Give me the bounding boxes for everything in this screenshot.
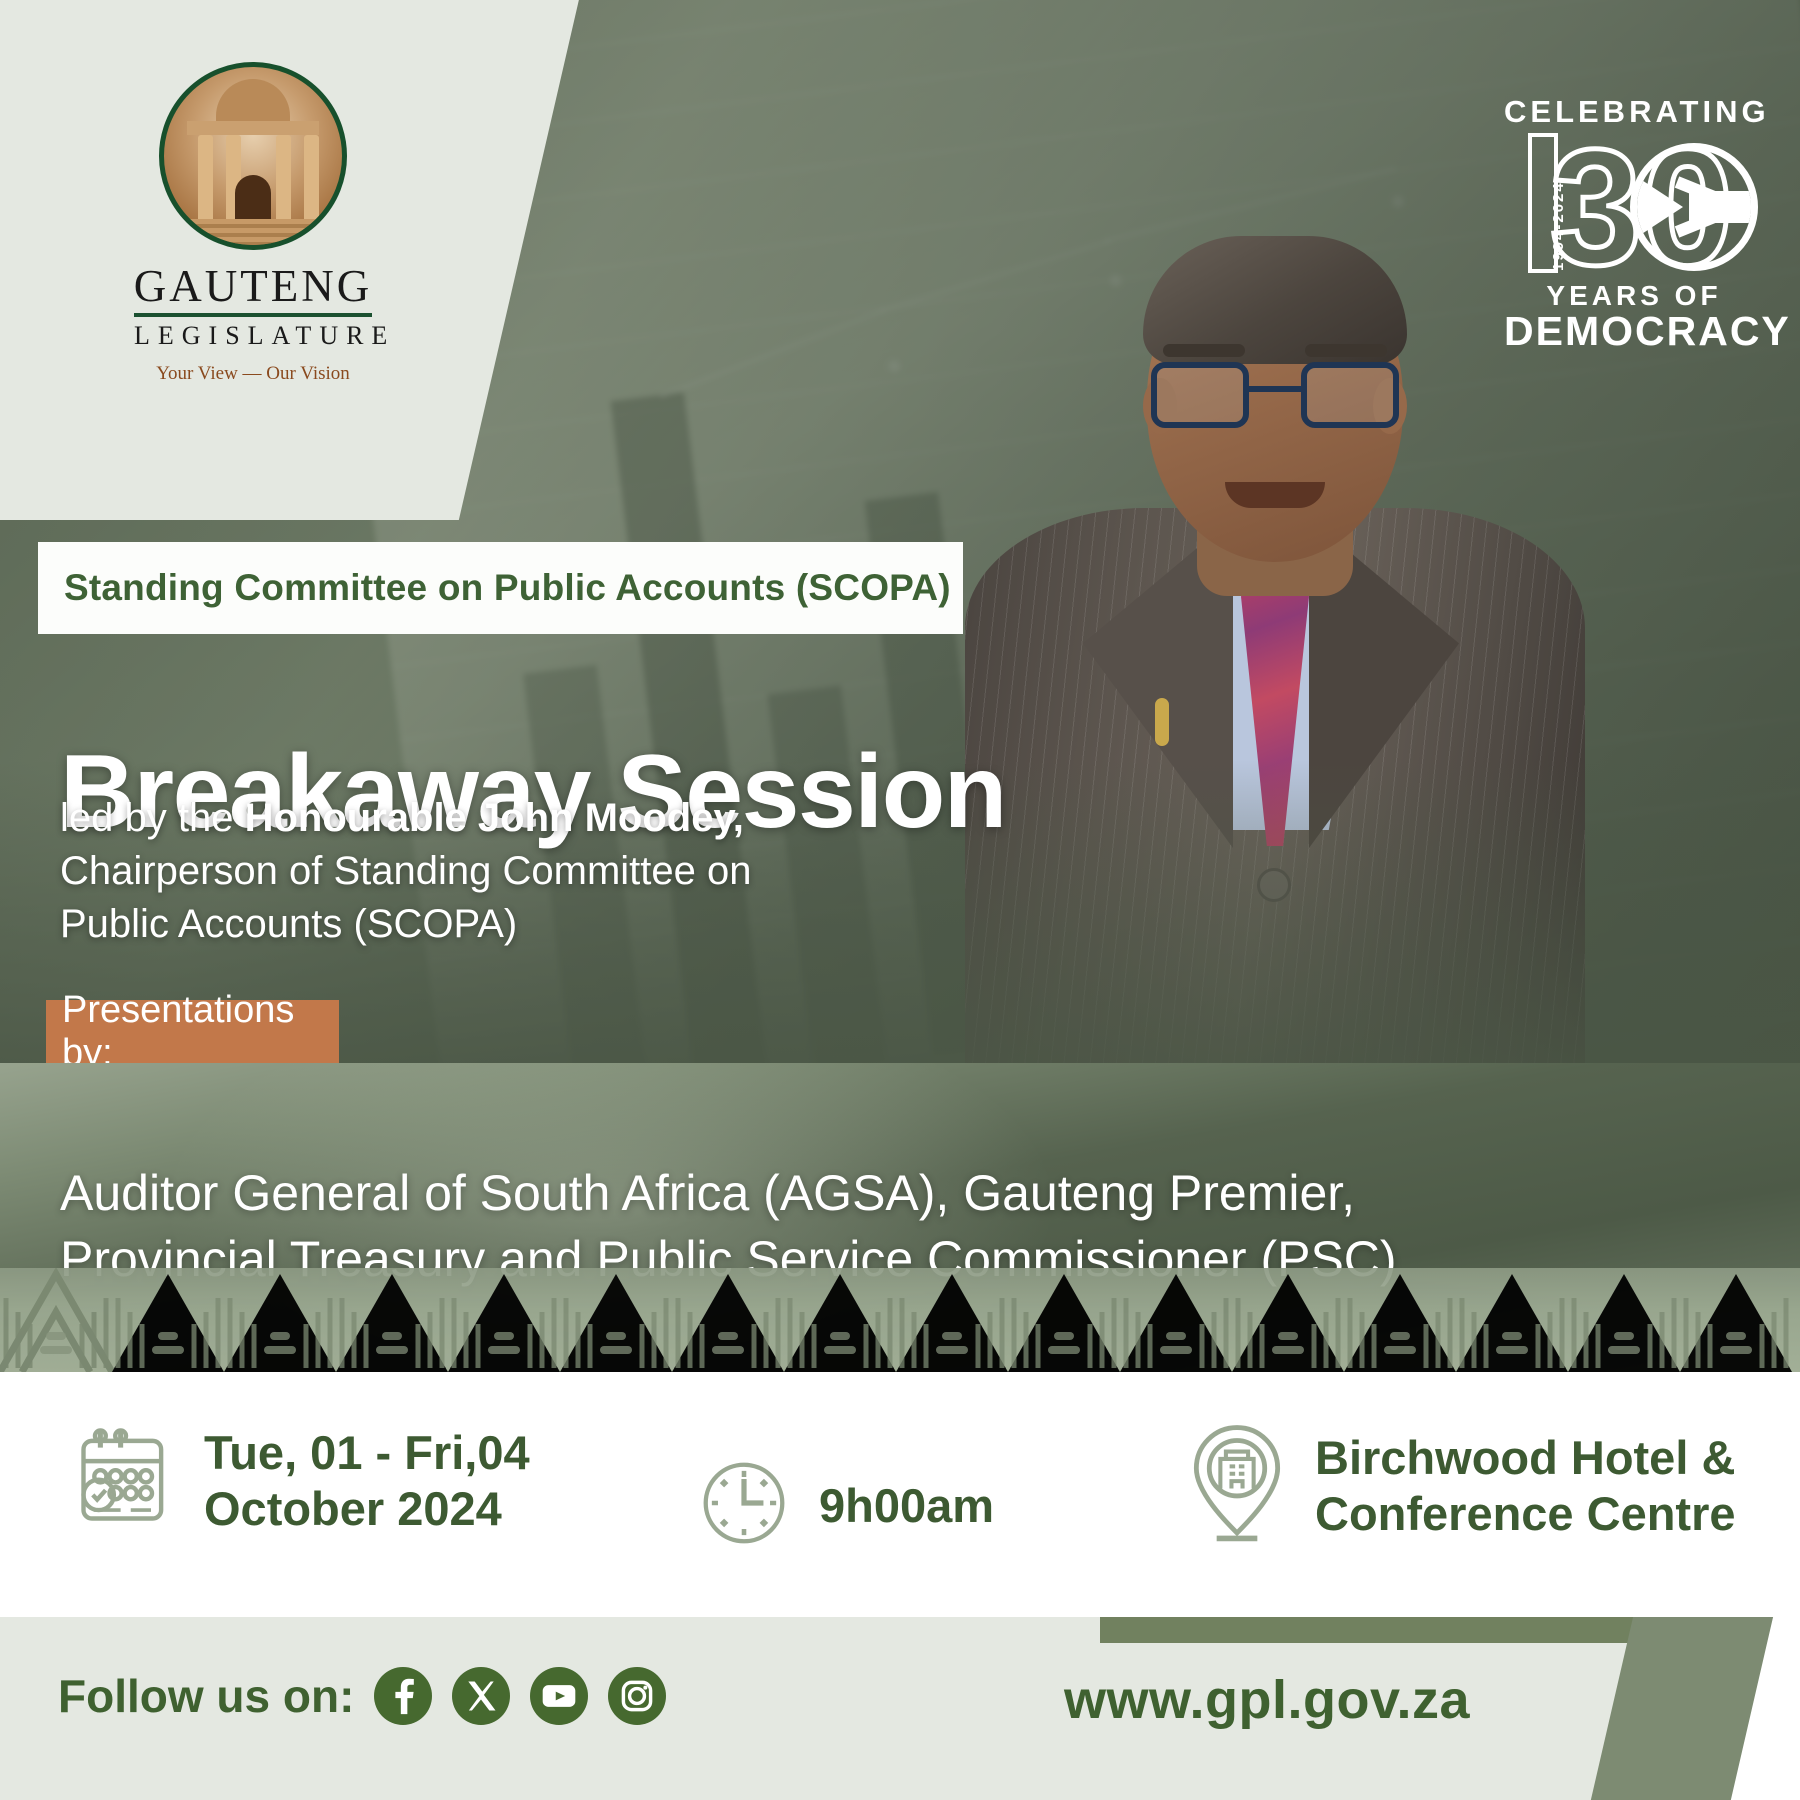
social-links: Follow us on: bbox=[58, 1667, 666, 1725]
sa-flag-roundel-icon bbox=[1630, 143, 1758, 271]
event-date-text: Tue, 01 - Fri,04 October 2024 bbox=[204, 1425, 530, 1536]
committee-label-box: Standing Committee on Public Accounts (S… bbox=[38, 542, 963, 634]
event-time: 9h00am bbox=[695, 1454, 994, 1557]
website-url[interactable]: www.gpl.gov.za bbox=[1064, 1669, 1470, 1731]
event-date-line2: October 2024 bbox=[204, 1482, 502, 1535]
african-pattern-strip bbox=[0, 1268, 1800, 1372]
hero-background: Jan Mar May bbox=[0, 0, 1800, 1090]
subtitle: led by the Honourable John Moodey, Chair… bbox=[60, 792, 751, 950]
event-date: Tue, 01 - Fri,04 October 2024 bbox=[70, 1424, 530, 1537]
event-venue: Birchwood Hotel & Conference Centre bbox=[1185, 1422, 1736, 1549]
pattern-triangles-icon bbox=[0, 1268, 1800, 1372]
anniversary-democracy: DEMOCRACY bbox=[1504, 310, 1764, 353]
presentations-by-label: Presentations by: bbox=[46, 989, 339, 1075]
map-pin-building-icon bbox=[1185, 1422, 1289, 1549]
clock-icon bbox=[695, 1454, 793, 1557]
event-time-text: 9h00am bbox=[819, 1478, 994, 1533]
lens-right bbox=[1301, 362, 1399, 428]
pediment-shape bbox=[187, 121, 319, 135]
logo-subwordmark: LEGISLATURE bbox=[134, 321, 378, 351]
lapel-pin bbox=[1155, 698, 1169, 746]
instagram-icon[interactable] bbox=[608, 1667, 666, 1725]
x-twitter-icon[interactable] bbox=[452, 1667, 510, 1725]
event-venue-line2: Conference Centre bbox=[1315, 1487, 1736, 1540]
eyebrow-right bbox=[1305, 344, 1387, 357]
calendar-icon bbox=[70, 1424, 178, 1537]
follow-us-label: Follow us on: bbox=[58, 1669, 354, 1723]
youtube-icon[interactable] bbox=[530, 1667, 588, 1725]
eyeglasses-icon bbox=[1151, 362, 1399, 434]
subtitle-prefix: led by the bbox=[60, 796, 245, 840]
event-poster: Jan Mar May bbox=[0, 0, 1800, 1800]
steps-shape bbox=[164, 219, 342, 245]
event-venue-text: Birchwood Hotel & Conference Centre bbox=[1315, 1430, 1736, 1541]
lens-left bbox=[1151, 362, 1249, 428]
dome-shape bbox=[216, 79, 290, 123]
subtitle-line3: Public Accounts (SCOPA) bbox=[60, 902, 517, 946]
column-shape bbox=[304, 135, 319, 219]
gauteng-legislature-logo: GAUTENG LEGISLATURE Your View — Our Visi… bbox=[128, 62, 378, 385]
event-venue-line1: Birchwood Hotel & bbox=[1315, 1431, 1735, 1484]
presenters-line-1: Auditor General of South Africa (AGSA), … bbox=[60, 1160, 1720, 1226]
facebook-icon[interactable] bbox=[374, 1667, 432, 1725]
glasses-bridge bbox=[1249, 386, 1301, 392]
footer: Follow us on: www.gpl.gov.za bbox=[0, 1617, 1800, 1800]
logo-wordmark: GAUTENG bbox=[128, 264, 378, 309]
event-info-bar: Tue, 01 - Fri,04 October 2024 bbox=[0, 1372, 1800, 1617]
anniversary-logo: CELEBRATING 1994-2024 30 YEARS OF DEMOCR… bbox=[1504, 96, 1764, 353]
column-shape bbox=[276, 135, 291, 219]
eyebrow-left bbox=[1163, 344, 1245, 357]
mouth bbox=[1225, 482, 1325, 508]
speaker-name: Honourable John Moodey, bbox=[245, 796, 744, 840]
legislature-building-icon bbox=[159, 62, 347, 250]
event-date-line1: Tue, 01 - Fri,04 bbox=[204, 1426, 530, 1479]
column-shape bbox=[198, 135, 213, 219]
presentations-by-tab: Presentations by: bbox=[46, 1000, 339, 1063]
flag-band-middle bbox=[1689, 191, 1758, 223]
committee-label-text: Standing Committee on Public Accounts (S… bbox=[38, 567, 951, 609]
door-shape bbox=[235, 175, 271, 223]
logo-tagline: Your View — Our Vision bbox=[128, 363, 378, 385]
anniversary-number-group: 1994-2024 30 bbox=[1504, 129, 1764, 279]
subtitle-line2: Chairperson of Standing Committee on bbox=[60, 849, 751, 893]
logo-rule bbox=[134, 313, 372, 317]
